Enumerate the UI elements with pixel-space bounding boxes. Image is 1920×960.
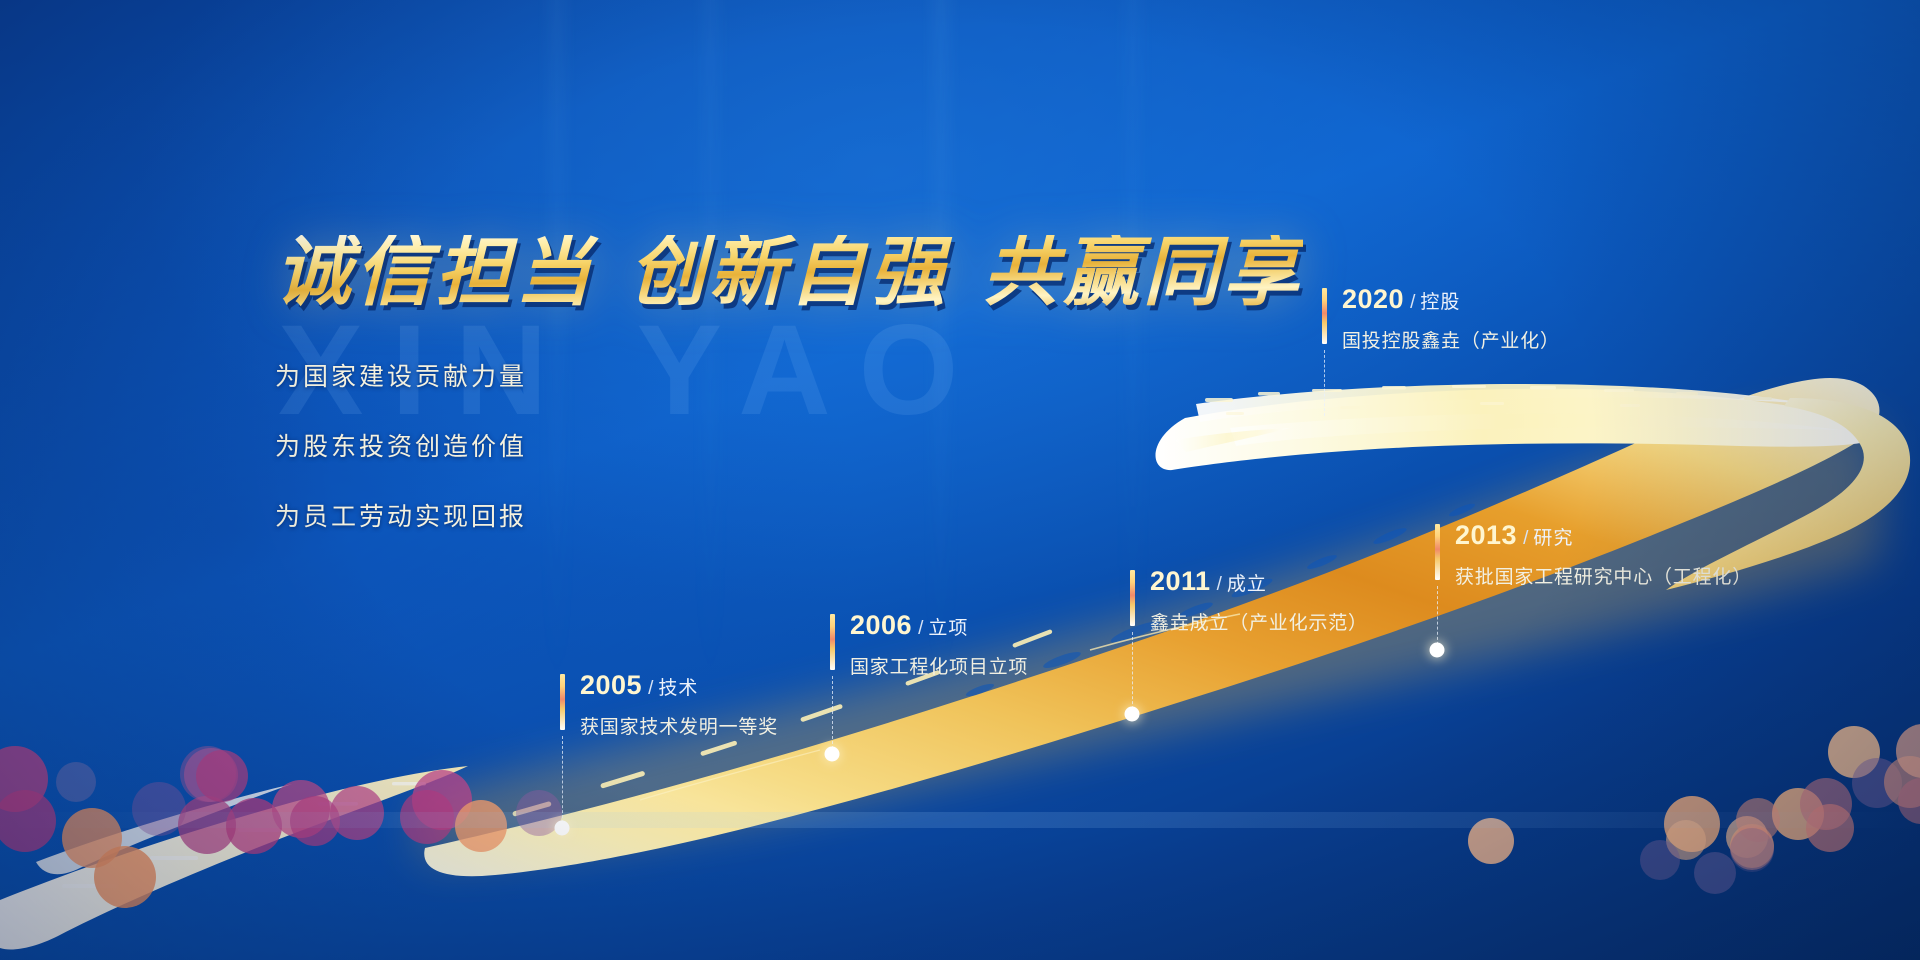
bokeh-dot: [56, 762, 96, 802]
bokeh-dot: [1730, 824, 1774, 868]
horizon-light-band: [0, 812, 1920, 828]
bokeh-dot: [1828, 726, 1880, 778]
bokeh-dot: [1730, 826, 1774, 870]
milestone-year-row: 2013/研究: [1455, 522, 1752, 549]
milestone-dot-2005[interactable]: [555, 821, 570, 836]
milestone-tag: 成立: [1227, 574, 1267, 595]
subtitle-line: 为员工劳动实现回报: [275, 497, 1303, 533]
milestone-2006[interactable]: 2006/立项 国家工程化项目立项: [830, 612, 1028, 679]
milestone-separator: /: [1410, 292, 1415, 313]
milestone-leader-line-2013: [1437, 586, 1438, 650]
milestone-year: 2020: [1342, 284, 1404, 314]
milestone-leader-line-2006: [832, 676, 833, 754]
bokeh-dot: [1640, 840, 1680, 880]
bokeh-dot: [0, 746, 48, 812]
milestone-texts: 2011/成立 鑫垚成立（产业化示范）: [1150, 568, 1368, 635]
bokeh-dot: [184, 748, 238, 802]
milestone-2011[interactable]: 2011/成立 鑫垚成立（产业化示范）: [1130, 568, 1368, 635]
milestone-separator: /: [918, 618, 923, 639]
milestone-accent-bar: [830, 614, 835, 670]
milestone-2020[interactable]: 2020/控股 国投控股鑫垚（产业化）: [1322, 286, 1560, 353]
bokeh-dot: [1694, 852, 1736, 894]
milestone-year-row: 2006/立项: [850, 612, 1028, 639]
milestone-accent-bar: [1322, 288, 1327, 344]
milestone-year: 2011: [1150, 566, 1211, 596]
milestone-texts: 2006/立项 国家工程化项目立项: [850, 612, 1028, 679]
bokeh-dot: [1730, 828, 1774, 872]
bokeh-dot: [1884, 756, 1920, 808]
headline-part-2: 创新自强: [629, 230, 949, 315]
milestone-year-row: 2020/控股: [1342, 286, 1560, 313]
milestone-texts: 2013/研究 获批国家工程研究中心（工程化）: [1455, 522, 1752, 589]
milestone-separator: /: [648, 678, 653, 699]
subtitle-line: 为股东投资创造价值: [275, 427, 1303, 463]
milestone-dot-2006[interactable]: [825, 747, 840, 762]
milestone-tag: 立项: [928, 618, 968, 639]
banner-canvas: XIN YAO 诚信担当创新自强共赢同享 为国家建设贡献力量 为股东投资创造价值…: [0, 0, 1920, 960]
milestone-year-row: 2011/成立: [1150, 568, 1368, 595]
milestone-tag: 控股: [1420, 292, 1460, 313]
milestone-accent-bar: [560, 674, 565, 730]
milestone-accent-bar: [1130, 570, 1135, 626]
milestone-year-row: 2005/技术: [580, 672, 778, 699]
milestone-dot-2011[interactable]: [1125, 707, 1140, 722]
milestone-description: 获批国家工程研究中心（工程化）: [1455, 562, 1752, 589]
milestone-2005[interactable]: 2005/技术 获国家技术发明一等奖: [560, 672, 778, 739]
milestone-separator: /: [1217, 574, 1222, 595]
milestone-tag: 技术: [658, 678, 698, 699]
bokeh-dot: [272, 780, 330, 838]
milestone-2013[interactable]: 2013/研究 获批国家工程研究中心（工程化）: [1435, 522, 1752, 589]
milestone-texts: 2005/技术 获国家技术发明一等奖: [580, 672, 778, 739]
milestone-dot-2013[interactable]: [1430, 643, 1445, 658]
milestone-description: 国投控股鑫垚（产业化）: [1342, 326, 1560, 353]
headline-part-3: 共赢同享: [983, 230, 1303, 315]
page-title: 诚信担当创新自强共赢同享: [275, 235, 1303, 311]
milestone-description: 获国家技术发明一等奖: [580, 712, 778, 739]
headline-block: XIN YAO 诚信担当创新自强共赢同享 为国家建设贡献力量 为股东投资创造价值…: [275, 235, 1303, 567]
milestone-leader-line-2011: [1132, 632, 1133, 714]
milestone-tag: 研究: [1533, 528, 1573, 549]
milestone-leader-line-2020: [1324, 350, 1325, 416]
milestone-year: 2006: [850, 610, 912, 640]
milestone-year: 2013: [1455, 520, 1517, 550]
bokeh-dot: [1852, 758, 1902, 808]
bokeh-dot: [1896, 724, 1920, 778]
headline-part-1: 诚信担当: [275, 230, 595, 315]
bokeh-dot: [94, 846, 156, 908]
milestone-texts: 2020/控股 国投控股鑫垚（产业化）: [1342, 286, 1560, 353]
milestone-separator: /: [1523, 528, 1528, 549]
milestone-description: 国家工程化项目立项: [850, 652, 1028, 679]
subtitle-list: 为国家建设贡献力量 为股东投资创造价值 为员工劳动实现回报: [275, 357, 1303, 533]
milestone-accent-bar: [1435, 524, 1440, 580]
milestone-year: 2005: [580, 670, 642, 700]
bokeh-dot: [196, 750, 248, 802]
milestone-description: 鑫垚成立（产业化示范）: [1150, 608, 1368, 635]
subtitle-line: 为国家建设贡献力量: [275, 357, 1303, 393]
milestone-leader-line-2005: [562, 736, 563, 828]
bokeh-dot: [180, 746, 236, 802]
